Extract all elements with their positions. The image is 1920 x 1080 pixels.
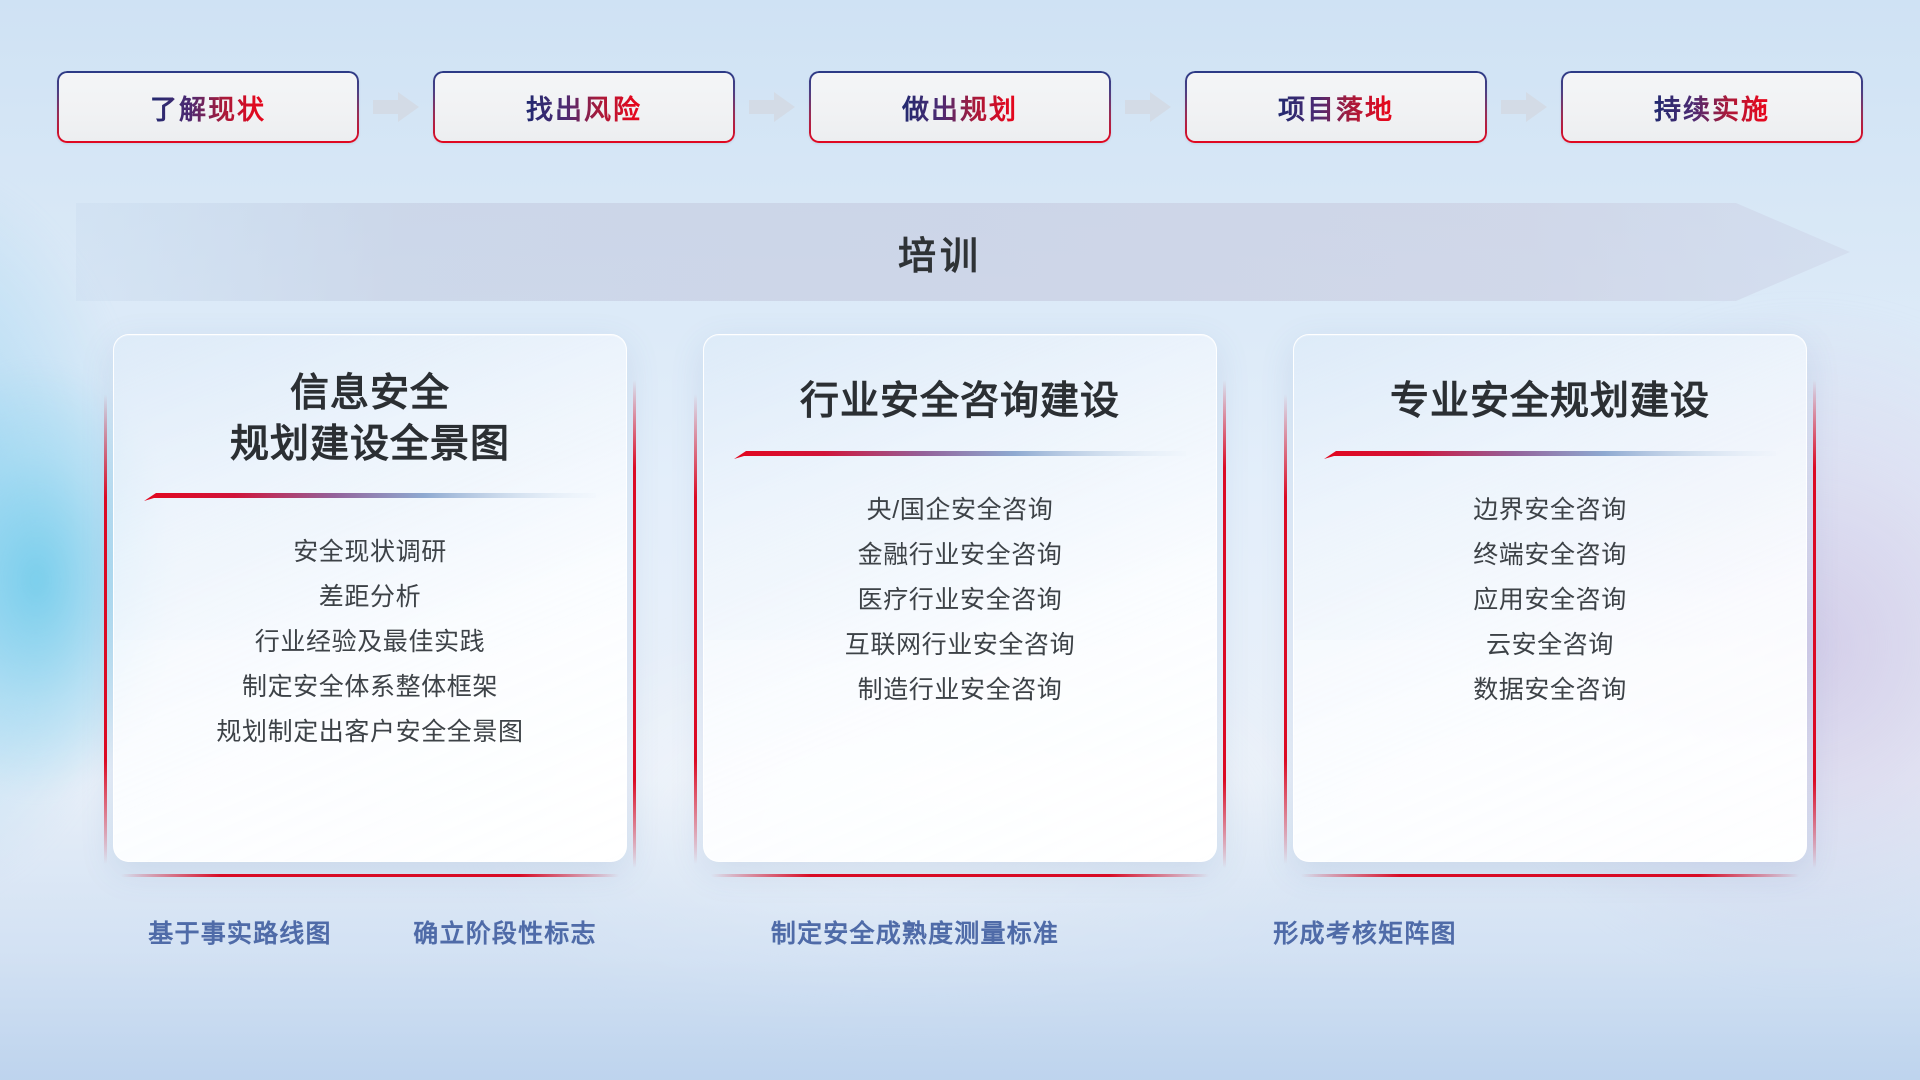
card-3-item-list: 边界安全咨询 终端安全咨询 应用安全咨询 云安全咨询 数据安全咨询 [1324,488,1776,713]
caption-4: 形成考核矩阵图 [1230,904,1500,960]
step-chip-2[interactable]: 找出风险 [433,71,735,143]
card-1-list-item: 规划制定出客户安全全景图 [216,710,523,755]
card-3-accent-bottom [1301,874,1799,877]
step-chip-1[interactable]: 了解现状 [57,71,359,143]
step-label-1: 了解现状 [150,88,266,127]
step-chip-3[interactable]: 做出规划 [809,71,1111,143]
step-label-5: 持续实施 [1654,88,1770,127]
card-3-list-item: 云安全咨询 [1486,623,1614,668]
card-1-list-item: 制定安全体系整体框架 [242,665,498,710]
card-3-list-item: 边界安全咨询 [1473,488,1627,533]
card-1-title-line-1: 信息安全 [144,369,596,420]
card-3-list-item: 终端安全咨询 [1473,533,1627,578]
card-3-title: 专业安全规划建设 [1324,377,1776,428]
card-2-list-item: 互联网行业安全咨询 [845,623,1075,668]
step-arrow-icon-1 [368,87,424,127]
card-2-accent-bottom [711,874,1209,877]
step-arrow-icon-2 [744,87,800,127]
card-1-accent-left [104,394,107,864]
step-label-2: 找出风险 [526,88,642,127]
card-2-list-item: 制造行业安全咨询 [858,668,1063,713]
card-3-title-line-1: 专业安全规划建设 [1324,377,1776,428]
step-label-4: 项目落地 [1278,88,1394,127]
training-band-label: 培训 [898,225,982,280]
card-3-divider [1324,448,1776,460]
card-3-list-item: 数据安全咨询 [1473,668,1627,713]
card-2-list-item: 金融行业安全咨询 [858,533,1063,578]
card-1-accent-right [633,380,636,868]
card-1-item-list: 安全现状调研 差距分析 行业经验及最佳实践 制定安全体系整体框架 规划制定出客户… [144,530,596,755]
card-1-list-item: 行业经验及最佳实践 [255,620,485,665]
step-label-3: 做出规划 [902,88,1018,127]
service-card-1[interactable]: 信息安全 规划建设全景图 [113,334,627,862]
caption-1: 基于事实路线图 [105,904,375,960]
step-chip-4[interactable]: 项目落地 [1185,71,1487,143]
training-band: 培训 [0,203,1880,301]
card-1-divider [144,490,596,502]
card-2-title: 行业安全咨询建设 [734,377,1186,428]
step-arrow-icon-4 [1496,87,1552,127]
card-2-accent-right [1223,380,1226,868]
service-card-row: 信息安全 规划建设全景图 [0,334,1920,874]
card-1-list-item: 安全现状调研 [293,530,447,575]
outcome-caption-row: 基于事实路线图 确立阶段性标志 制定安全成熟度测量标准 形成考核矩阵图 [0,904,1920,960]
service-card-3-wrapper: 专业安全规划建设 [1287,334,1813,874]
card-1-title: 信息安全 规划建设全景图 [144,369,596,470]
card-1-title-line-2: 规划建设全景图 [144,420,596,471]
card-2-divider [734,448,1186,460]
card-3-accent-right [1813,380,1816,868]
card-1-accent-bottom [121,874,619,877]
caption-2: 确立阶段性标志 [370,904,640,960]
process-step-flow: 了解现状 找出风险 做出规划 项目落地 持续实施 [0,68,1920,146]
step-arrow-icon-3 [1120,87,1176,127]
service-card-3[interactable]: 专业安全规划建设 [1293,334,1807,862]
caption-3: 制定安全成熟度测量标准 [700,904,1130,960]
card-2-accent-left [694,394,697,864]
card-3-accent-left [1284,394,1287,864]
service-card-2-wrapper: 行业安全咨询建设 [697,334,1223,874]
step-chip-5[interactable]: 持续实施 [1561,71,1863,143]
card-3-list-item: 应用安全咨询 [1473,578,1627,623]
card-1-list-item: 差距分析 [319,575,421,620]
card-2-item-list: 央/国企安全咨询 金融行业安全咨询 医疗行业安全咨询 互联网行业安全咨询 制造行… [734,488,1186,713]
card-2-list-item: 央/国企安全咨询 [867,488,1054,533]
service-card-1-wrapper: 信息安全 规划建设全景图 [107,334,633,874]
service-card-2[interactable]: 行业安全咨询建设 [703,334,1217,862]
card-2-list-item: 医疗行业安全咨询 [858,578,1063,623]
card-2-title-line-1: 行业安全咨询建设 [734,377,1186,428]
